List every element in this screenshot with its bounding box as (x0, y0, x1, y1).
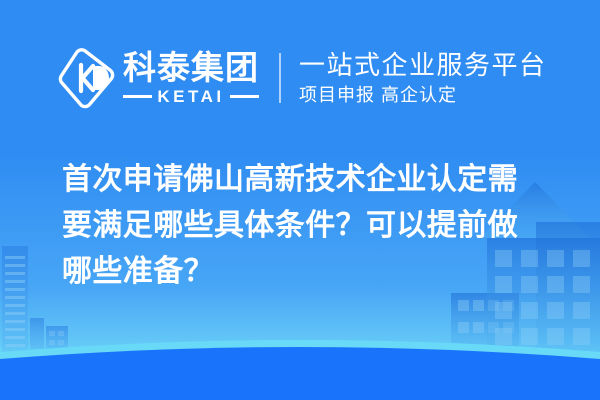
brand-logo[interactable]: 科泰集团 KETAI (58, 45, 259, 111)
tagline-sub: 项目申报 高企认定 (299, 85, 547, 106)
headline-line-1: 首次申请佛山高新技术企业认定需 (62, 157, 567, 203)
promo-banner: 科泰集团 KETAI 一站式企业服务平台 项目申报 高企认定 首次申请佛山高新技… (0, 0, 600, 400)
tagline-main: 一站式企业服务平台 (299, 51, 547, 80)
headline-line-3: 哪些准备？ (62, 249, 567, 295)
headline: 首次申请佛山高新技术企业认定需 要满足哪些具体条件？可以提前做 哪些准备？ (62, 157, 567, 295)
logo-dash-left (123, 95, 152, 98)
banner-header: 科泰集团 KETAI 一站式企业服务平台 项目申报 高企认定 (58, 42, 547, 114)
header-divider (279, 53, 281, 103)
bottom-wave-decoration (0, 320, 600, 400)
left-skyscraper-icon (2, 246, 68, 356)
ketai-diamond-monogram-icon (58, 47, 116, 109)
tagline-block: 一站式企业服务平台 项目申报 高企认定 (299, 51, 547, 106)
brand-name-cn: 科泰集团 (123, 51, 259, 85)
brand-name-en-row: KETAI (123, 88, 259, 105)
headline-line-2: 要满足哪些具体条件？可以提前做 (62, 203, 567, 249)
logo-dash-right (230, 95, 259, 98)
brand-name-en: KETAI (152, 88, 229, 105)
right-low-block-icon (451, 293, 519, 359)
